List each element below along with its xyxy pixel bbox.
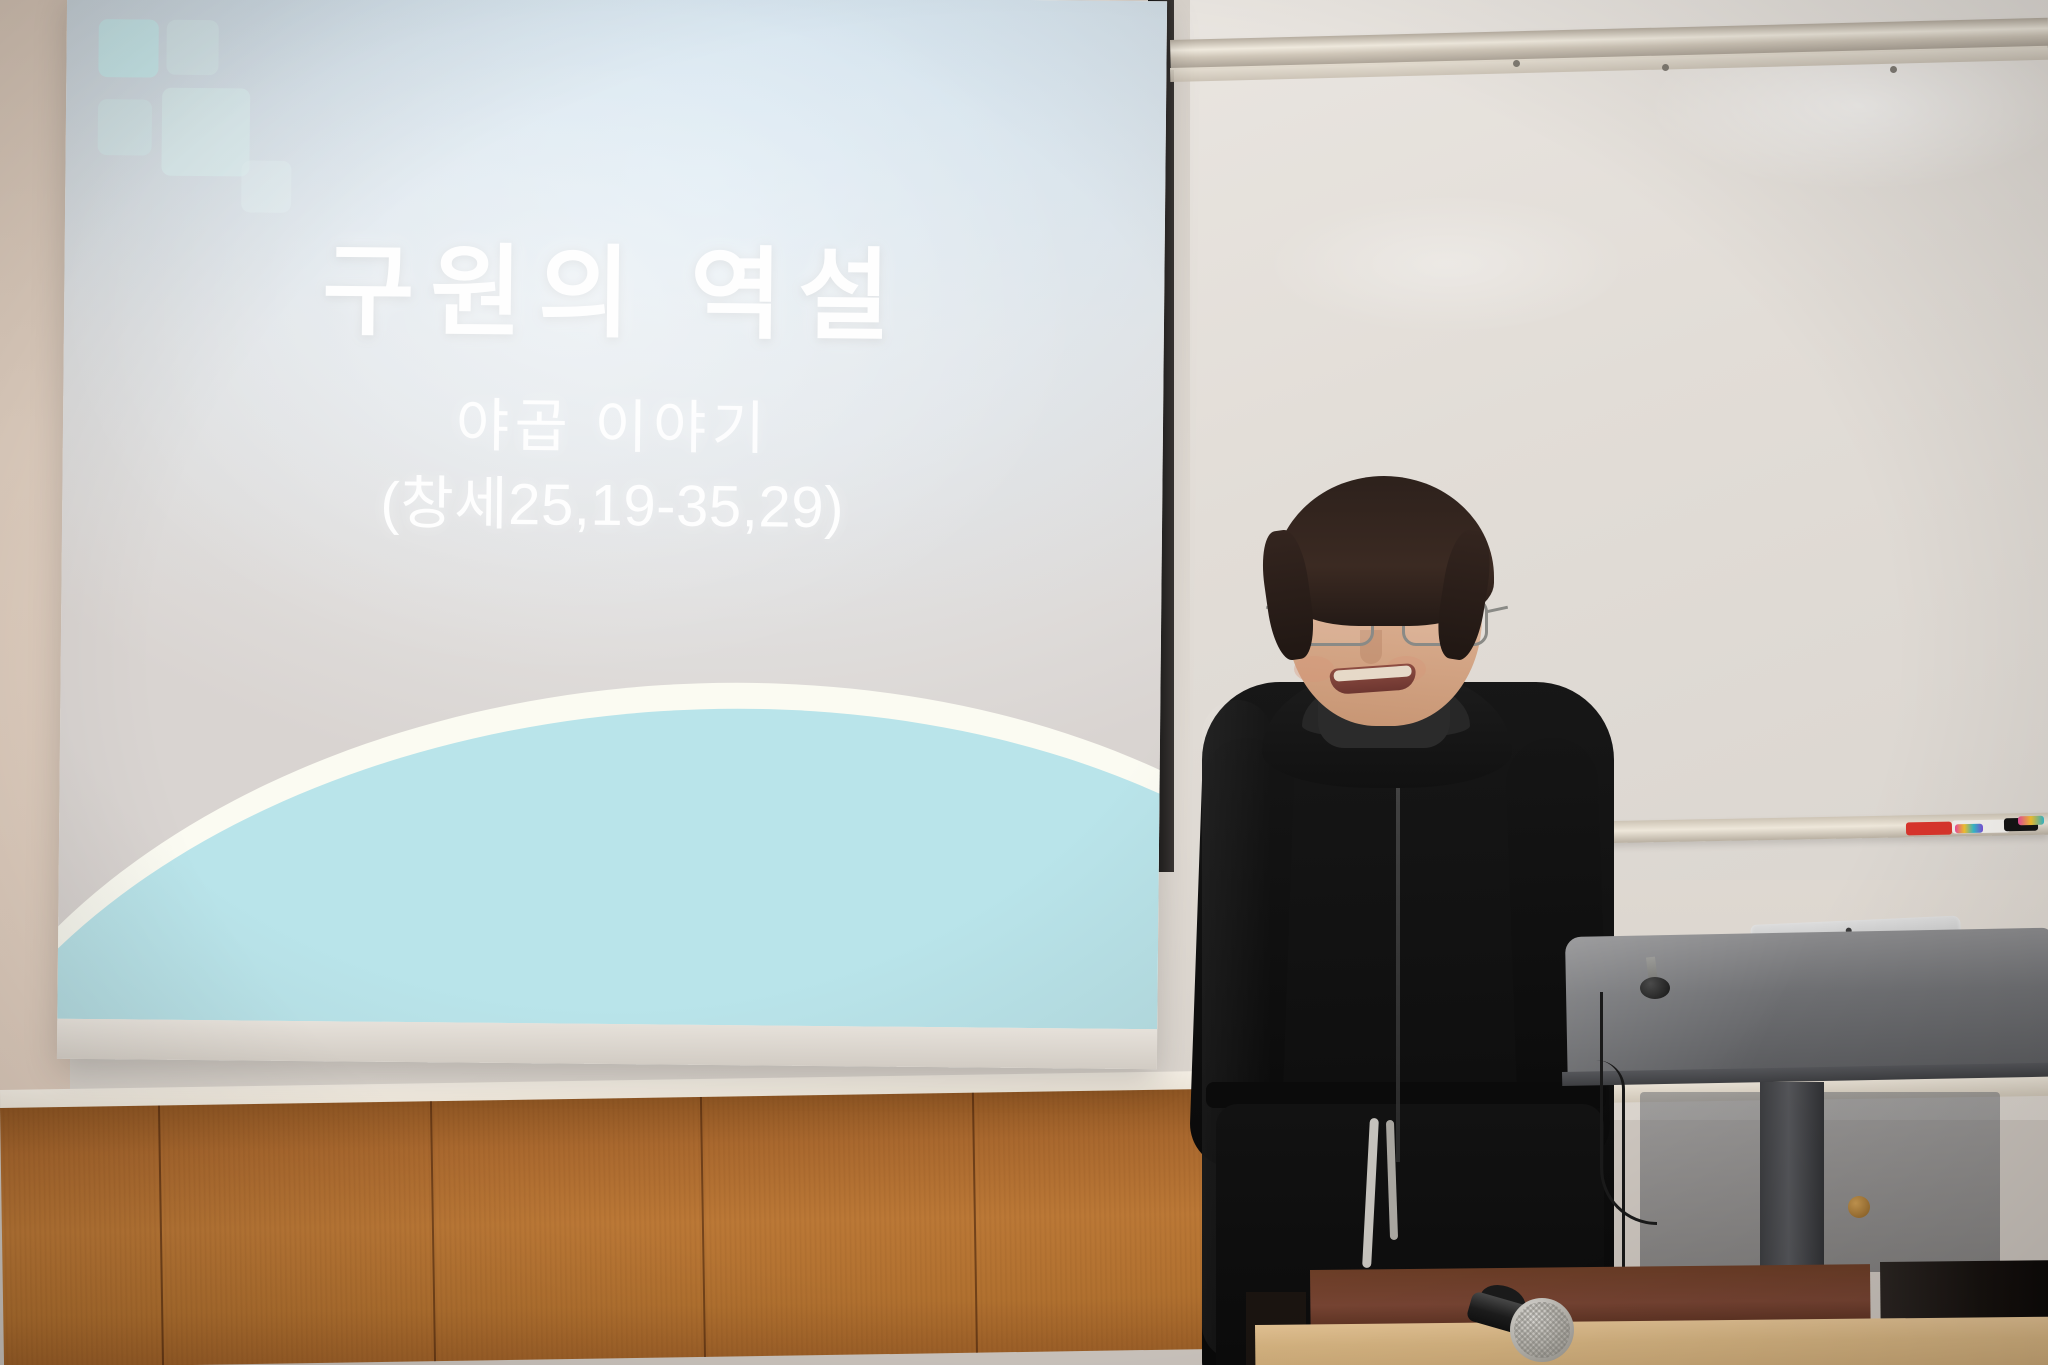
- slide-subtitle: 야곱 이야기: [63, 391, 1164, 465]
- projection-screen: 구원의 역설 야곱 이야기 (창세25,19-35,29): [57, 0, 1167, 1069]
- slide-title: 구원의 역설: [64, 237, 1165, 353]
- wood-wall-panel: [0, 1088, 1294, 1365]
- screen-surface: 구원의 역설 야곱 이야기 (창세25,19-35,29): [57, 0, 1167, 1069]
- foreground-desk: [1255, 1317, 2048, 1365]
- presentation-slide: 구원의 역설 야곱 이야기 (창세25,19-35,29): [57, 0, 1167, 1029]
- marker-red[interactable]: [1906, 822, 1952, 836]
- presenter: [1190, 470, 1620, 1365]
- lectern-knob[interactable]: [1848, 1196, 1870, 1218]
- presenter-teeth: [1333, 665, 1412, 681]
- wood-seam: [972, 1093, 978, 1353]
- rail-screw: [1513, 60, 1520, 67]
- marker-pink[interactable]: [2018, 816, 2044, 825]
- presenter-cheek: [1294, 656, 1334, 682]
- microphone-cable: [1596, 1060, 1625, 1300]
- glasses-temple: [1486, 606, 1508, 614]
- handheld-microphone[interactable]: [1510, 1298, 1574, 1362]
- wood-seam: [700, 1097, 706, 1357]
- wood-seam: [158, 1105, 164, 1365]
- jacket-zipper: [1396, 742, 1400, 1162]
- wood-seam: [430, 1101, 436, 1361]
- marker-rainbow[interactable]: [1955, 824, 1983, 834]
- slide-scripture-reference: (창세25,19-35,29): [62, 469, 1163, 543]
- rail-screw: [1662, 64, 1669, 71]
- lecture-room-photo: 구원의 역설 야곱 이야기 (창세25,19-35,29): [0, 0, 2048, 1365]
- rail-screw: [1890, 66, 1897, 73]
- slide-text-block: 구원의 역설 야곱 이야기 (창세25,19-35,29): [57, 0, 1167, 1029]
